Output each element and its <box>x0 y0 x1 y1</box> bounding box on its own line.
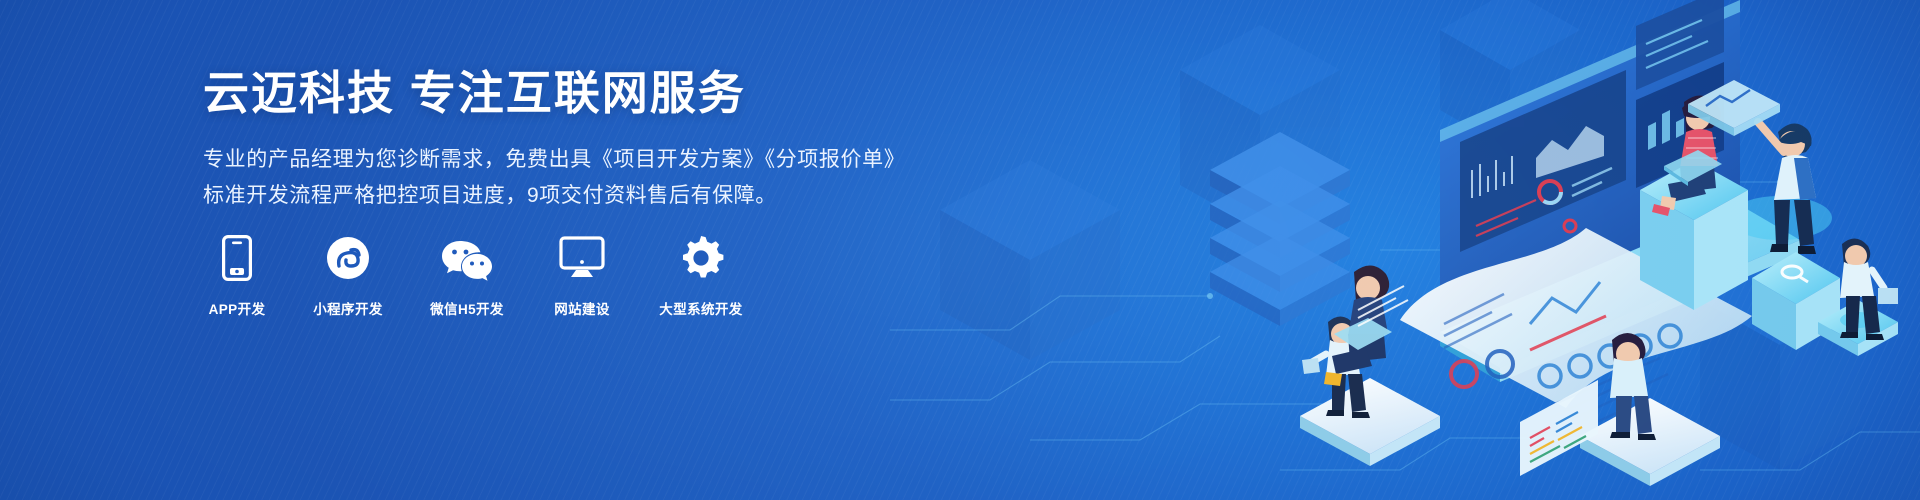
service-item-app[interactable]: APP开发 <box>203 232 271 318</box>
service-item-wechat-h5[interactable]: 微信H5开发 <box>425 232 509 318</box>
service-label: 小程序开发 <box>313 298 383 318</box>
tablet-platform-left <box>1300 378 1440 466</box>
service-label: APP开发 <box>209 298 266 318</box>
service-label: 微信H5开发 <box>430 298 504 318</box>
service-label: 大型系统开发 <box>659 298 742 318</box>
service-item-large-system[interactable]: 大型系统开发 <box>655 232 747 318</box>
mini-program-icon <box>325 232 371 284</box>
service-item-website[interactable]: 网站建设 <box>547 232 617 318</box>
service-label: 网站建设 <box>554 298 610 318</box>
subtitle-line-2: 标准开发流程严格把控项目进度，9项交付资料售后有保障。 <box>203 178 923 214</box>
subtitle-line-1: 专业的产品经理为您诊断需求，免费出具《项目开发方案》《分项报价单》 <box>203 142 923 178</box>
page-title: 云迈科技 专注互联网服务 <box>203 66 923 120</box>
desktop-monitor-icon <box>559 232 605 284</box>
service-list: APP开发 小程序开发 <box>203 232 747 318</box>
hero-banner: 云迈科技 专注互联网服务 专业的产品经理为您诊断需求，免费出具《项目开发方案》《… <box>0 0 1920 500</box>
server-stack <box>1210 132 1350 326</box>
service-item-mini-program[interactable]: 小程序开发 <box>309 232 387 318</box>
wechat-icon <box>441 232 493 284</box>
hero-copy: 云迈科技 专注互联网服务 专业的产品经理为您诊断需求，免费出具《项目开发方案》《… <box>203 66 923 214</box>
hero-subtitle: 专业的产品经理为您诊断需求，免费出具《项目开发方案》《分项报价单》 标准开发流程… <box>203 142 923 214</box>
tablet-platform-right <box>1580 398 1720 486</box>
isometric-tech-teamwork-illustration <box>880 0 1920 500</box>
mobile-phone-icon <box>222 232 252 284</box>
gear-icon <box>678 232 724 284</box>
